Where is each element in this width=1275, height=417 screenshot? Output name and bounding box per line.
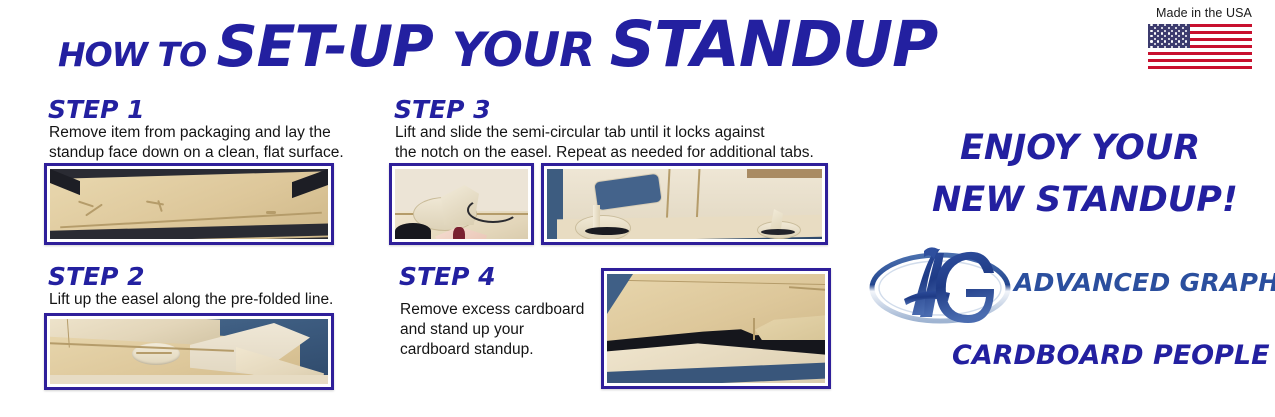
flag-star <box>1161 32 1163 34</box>
brand-name: ADVANCED GRAPHICS <box>1014 268 1275 297</box>
step3-photo-left <box>389 163 534 245</box>
promo-line-2: NEW STANDUP! <box>932 180 1238 220</box>
flag-star <box>1182 27 1184 29</box>
flag-stripe <box>1148 52 1252 55</box>
flag-star <box>1154 38 1156 40</box>
flag-star <box>1178 40 1180 42</box>
made-in-usa-label: Made in the USA <box>1148 6 1260 20</box>
flag-star <box>1185 24 1187 26</box>
flag-star <box>1178 30 1180 32</box>
flag-star <box>1168 43 1170 45</box>
flag-star <box>1164 24 1166 26</box>
flag-star <box>1171 40 1173 42</box>
flag-star <box>1157 30 1159 32</box>
flag-star <box>1164 35 1166 37</box>
step1-photo <box>44 163 334 245</box>
flag-star <box>1164 30 1166 32</box>
standup-instructions-graphic: HOW TO SET-UP YOUR STANDUP Made in the U… <box>0 0 1275 417</box>
flag-star <box>1178 46 1180 48</box>
flag-star <box>1157 46 1159 48</box>
flag-star <box>1154 32 1156 34</box>
step-3-body: Lift and slide the semi-circular tab unt… <box>395 123 845 163</box>
tagline: CARDBOARD PEOPLE <box>952 340 1270 371</box>
flag-star <box>1150 24 1152 26</box>
step-4-title: STEP 4 <box>399 262 496 291</box>
flag-star <box>1168 32 1170 34</box>
flag-star <box>1150 30 1152 32</box>
flag-canton <box>1148 24 1190 48</box>
flag-star <box>1171 35 1173 37</box>
flag-star <box>1182 32 1184 34</box>
step-1-title: STEP 1 <box>48 95 145 124</box>
flag-star <box>1150 35 1152 37</box>
made-in-usa-badge: Made in the USA <box>1148 6 1260 76</box>
flag-star <box>1185 40 1187 42</box>
flag-stripe <box>1148 59 1252 62</box>
step-4-body: Remove excess cardboard and stand up you… <box>400 300 620 360</box>
flag-star <box>1185 35 1187 37</box>
step-3-title: STEP 3 <box>394 95 491 124</box>
flag-star <box>1185 46 1187 48</box>
flag-star <box>1154 43 1156 45</box>
ag-oval-logo <box>866 243 1014 325</box>
american-flag-icon <box>1148 24 1252 69</box>
flag-stripe <box>1148 66 1252 69</box>
flag-star <box>1150 46 1152 48</box>
flag-star <box>1168 38 1170 40</box>
flag-star <box>1171 30 1173 32</box>
flag-star <box>1157 35 1159 37</box>
flag-star <box>1150 40 1152 42</box>
flag-star <box>1157 24 1159 26</box>
flag-star <box>1171 46 1173 48</box>
flag-star <box>1171 24 1173 26</box>
step4-photo <box>601 268 831 389</box>
flag-star <box>1178 35 1180 37</box>
step-2-body: Lift up the easel along the pre-folded l… <box>49 290 379 310</box>
title-part-4: STANDUP <box>610 8 938 81</box>
flag-star <box>1178 24 1180 26</box>
promo-line-1: ENJOY YOUR <box>960 128 1200 168</box>
flag-star <box>1161 27 1163 29</box>
title-part-1: HOW TO <box>58 35 217 74</box>
flag-star <box>1161 43 1163 45</box>
step3-photo-right <box>541 163 828 245</box>
flag-star <box>1157 40 1159 42</box>
flag-star <box>1182 38 1184 40</box>
flag-star <box>1175 27 1177 29</box>
flag-star <box>1154 27 1156 29</box>
flag-star <box>1182 43 1184 45</box>
page-title: HOW TO SET-UP YOUR STANDUP <box>58 14 878 76</box>
flag-star <box>1168 27 1170 29</box>
flag-star <box>1164 46 1166 48</box>
flag-star <box>1175 43 1177 45</box>
flag-star <box>1175 32 1177 34</box>
flag-star <box>1164 40 1166 42</box>
step-1-body: Remove item from packaging and lay the s… <box>49 123 379 163</box>
flag-star <box>1175 38 1177 40</box>
step-2-title: STEP 2 <box>48 262 145 291</box>
flag-star <box>1185 30 1187 32</box>
title-part-3: YOUR <box>452 23 610 78</box>
step2-photo <box>44 313 334 390</box>
title-part-2: SET-UP <box>217 14 452 80</box>
flag-star <box>1161 38 1163 40</box>
